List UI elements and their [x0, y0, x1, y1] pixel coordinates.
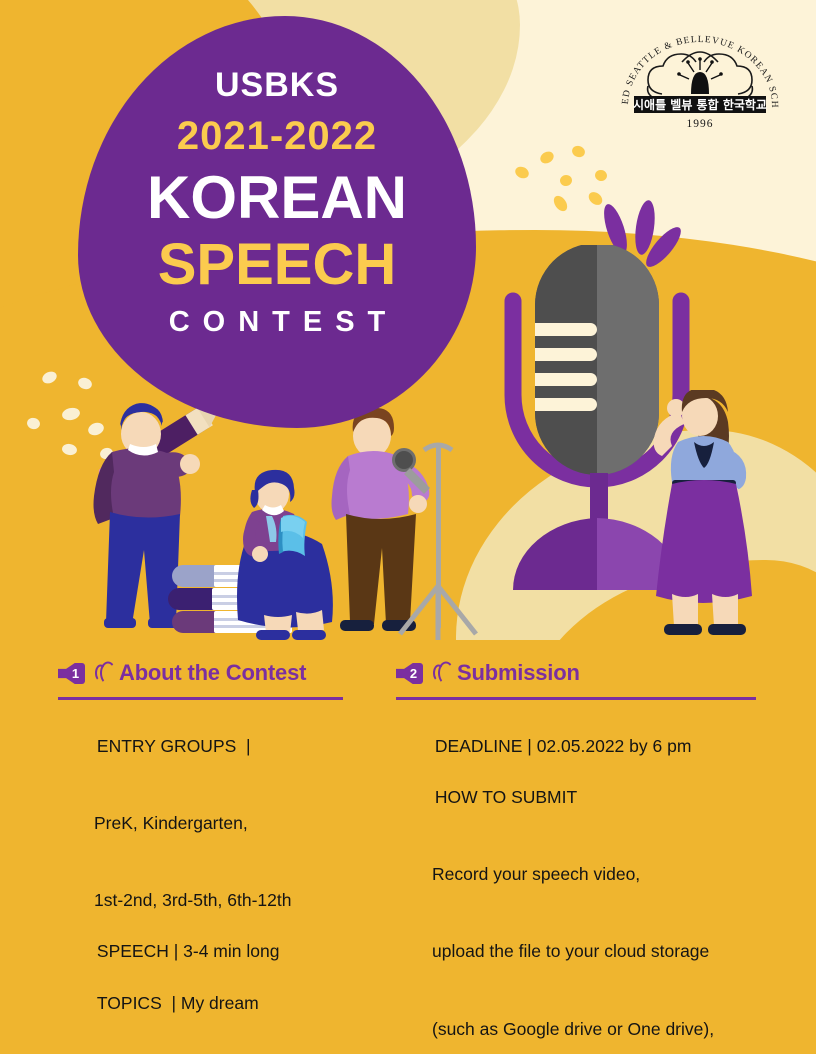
submission-line: DEADLINE | 02.05.2022 by 6 pm	[435, 736, 692, 756]
poster-canvas: USBKS 2021-2022 KOREAN SPEECH CONTEST UN…	[0, 0, 816, 1054]
section-header-about: 1 About the Contest	[58, 655, 348, 691]
title-years: 2021-2022	[177, 116, 377, 156]
submission-line: Record your speech video,	[396, 862, 798, 888]
section-number: 2	[405, 664, 422, 683]
about-body-text: ENTRY GROUPS | PreK, Kindergarten, 1st-2…	[58, 708, 348, 1054]
title-block: USBKS 2021-2022 KOREAN SPEECH CONTEST	[78, 16, 476, 428]
content-columns: 1 About the Contest ENTRY GROUPS | PreK,…	[0, 655, 816, 1054]
people-illustration	[0, 390, 816, 650]
figure-woman-by-microphone	[654, 390, 752, 635]
section-submission: 2 Submission DEADLINE | 02.05.2022 by 6 …	[356, 655, 816, 1054]
speaker-icon: 2	[396, 660, 426, 686]
sound-wave-icon	[95, 661, 112, 685]
about-line: 1st-2nd, 3rd-5th, 6th-12th	[58, 888, 348, 914]
submission-line: (such as Google drive or One drive),	[396, 1017, 798, 1043]
section-about-the-contest: 1 About the Contest ENTRY GROUPS | PreK,…	[0, 655, 356, 1054]
section-header-submission: 2 Submission	[396, 655, 798, 691]
title-line-two: SPEECH	[158, 236, 397, 294]
about-line: TOPICS | My dream	[97, 993, 259, 1013]
speaker-icon: 1	[58, 660, 88, 686]
section-divider	[58, 697, 343, 700]
about-line: PreK, Kindergarten,	[58, 811, 348, 837]
submission-body-text: DEADLINE | 02.05.2022 by 6 pm HOW TO SUB…	[396, 708, 798, 1054]
section-number: 1	[67, 664, 84, 683]
sound-wave-icon	[433, 661, 450, 685]
logo-year: 1996	[687, 118, 714, 130]
logo-banner-text: 시애틀 벨뷰 통합 한국학교	[633, 97, 767, 112]
submission-line: HOW TO SUBMIT	[435, 787, 577, 807]
school-logo: UNITED SEATTLE & BELLEVUE KOREAN SCHOOL	[612, 32, 788, 142]
submission-line: upload the file to your cloud storage	[396, 939, 798, 965]
about-line: ENTRY GROUPS |	[97, 736, 251, 756]
section-title-about: About the Contest	[119, 660, 306, 686]
about-line: SPEECH | 3-4 min long	[97, 941, 280, 961]
section-title-submission: Submission	[457, 660, 580, 686]
title-line-three: CONTEST	[156, 308, 399, 337]
figure-girl-reading	[237, 470, 333, 640]
figure-man-at-microphone	[332, 408, 431, 631]
title-org: USBKS	[215, 68, 339, 102]
section-divider	[396, 697, 756, 700]
title-line-one: KOREAN	[147, 168, 407, 228]
